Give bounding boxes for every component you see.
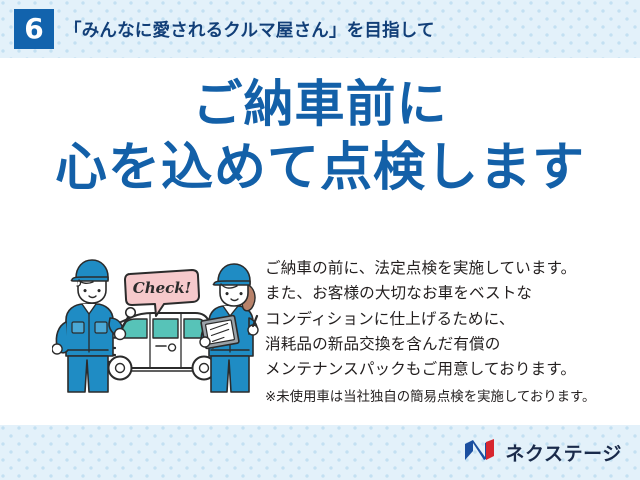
headline: ご納車前に 心を込めて点検します	[0, 76, 640, 198]
speech-bubble-text: Check!	[133, 279, 192, 297]
headline-line-2: 心を込めて点検します	[0, 139, 640, 198]
footer-band: ネクステージ	[0, 425, 640, 480]
copy-line-2: また、お客様の大切なお車をベストな	[265, 281, 633, 306]
speech-bubble: Check!	[125, 270, 199, 316]
copy-line-1: ご納車の前に、法定点検を実施しています。	[265, 256, 633, 281]
promo-slide: 6 「みんなに愛されるクルマ屋さん」を目指して ご納車前に 心を込めて点検します	[0, 0, 640, 480]
copy-note: ※未使用車は当社独自の簡易点検を実施しております。	[265, 386, 633, 408]
copy-line-4: 消耗品の新品交換を含んだ有償の	[265, 332, 633, 357]
copy-line-5: メンテナンスパックもご用意しております。	[265, 357, 633, 382]
step-badge: 6	[14, 9, 54, 49]
header-band: 6 「みんなに愛されるクルマ屋さん」を目指して	[0, 0, 640, 58]
step-badge-number: 6	[24, 15, 43, 43]
headline-line-1: ご納車前に	[0, 76, 640, 133]
body-copy: ご納車の前に、法定点検を実施しています。 また、お客様の大切なお車をベストな コ…	[265, 256, 633, 408]
mechanics-illustration: Check!	[52, 256, 267, 404]
brand-lockup: ネクステージ	[464, 425, 622, 480]
header-title: 「みんなに愛されるクルマ屋さん」を目指して	[64, 0, 435, 58]
copy-line-3: コンディションに仕上げるために、	[265, 307, 633, 332]
content-area: ご納車前に 心を込めて点検します	[0, 58, 640, 425]
nextage-n-logo-icon	[464, 438, 498, 467]
brand-name: ネクステージ	[505, 439, 622, 466]
